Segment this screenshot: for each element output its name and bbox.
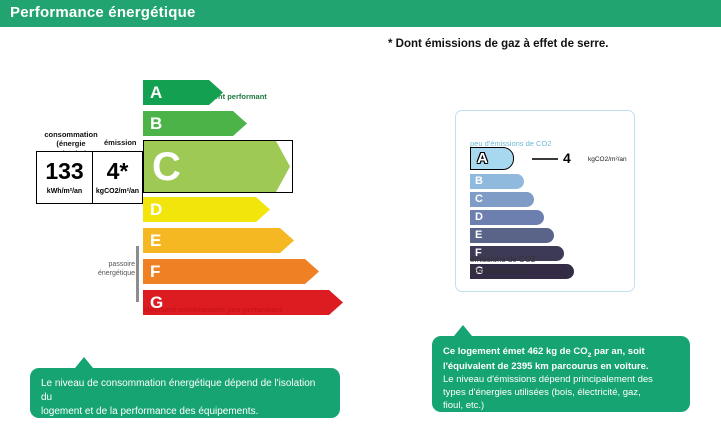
- arrow-tip-icon: [305, 259, 319, 284]
- emission-cell: 4* kgCO2/m²/an: [93, 152, 142, 203]
- consumption-value: 133: [45, 160, 83, 183]
- emission-unit: kgCO2/m²/an: [96, 188, 139, 195]
- co2-class-letter: A: [477, 151, 488, 166]
- energy-class-letter: B: [150, 115, 162, 132]
- co2-bold-2: l'équivalent de 2395 km parcourus en voi…: [443, 361, 649, 372]
- arrow-body: [143, 228, 280, 253]
- co2-bold-1-end: par an, soit: [591, 346, 644, 357]
- consumption-value-box: 133 kWh/m²/an 4* kgCO2/m²/an: [36, 151, 143, 204]
- passoire-bracket: [136, 246, 139, 302]
- co2-value: 4: [563, 150, 571, 166]
- co2-class-row-b: B: [470, 174, 524, 189]
- advice-line-3: Pour l'améliorer, voir pages 5 à 6: [41, 419, 187, 430]
- energy-class-letter: E: [150, 232, 161, 249]
- arrow-tip-icon: [233, 111, 247, 136]
- passoire-label: passoireénergétique: [95, 260, 135, 279]
- co2-bar-e: E: [470, 228, 554, 243]
- energy-class-row-a: A: [143, 80, 225, 105]
- arrow-tip-icon: [209, 80, 223, 105]
- co2-emissions-panel: peu d'émissions de CO2 A4kgCO2/m²/anBCDE…: [455, 110, 635, 292]
- co2-line-5: fioul, etc.): [443, 400, 484, 411]
- emission-value: 4*: [107, 160, 129, 183]
- callout-pointer: [454, 325, 472, 336]
- energy-class-letter: D: [150, 201, 162, 218]
- co2-class-letter: C: [475, 194, 483, 205]
- co2-advice-callout: Ce logement émet 462 kg de CO2 par an, s…: [432, 336, 690, 412]
- energy-class-row-c: C: [143, 140, 293, 193]
- energy-advice-text: Le niveau de consommation énergétique dé…: [30, 368, 340, 440]
- energy-bar-c: C: [144, 141, 292, 192]
- energy-class-row-f: F: [143, 259, 321, 284]
- co2-class-letter: B: [475, 176, 483, 187]
- energy-advice-callout: Le niveau de consommation énergétique dé…: [30, 368, 340, 418]
- co2-bold-1: Ce logement émet 462 kg de CO: [443, 346, 588, 357]
- energy-class-letter: G: [150, 294, 163, 311]
- energy-bar-e: E: [143, 228, 296, 253]
- consumption-cell: 133 kWh/m²/an: [37, 152, 93, 203]
- co2-leader-line: [532, 158, 558, 160]
- energy-bar-f: F: [143, 259, 321, 284]
- co2-bar-a: A: [470, 147, 514, 170]
- energy-bar-b: B: [143, 111, 249, 136]
- co2-bar-b: B: [470, 174, 524, 189]
- arrow-tip-icon: [276, 141, 290, 192]
- energy-performance-scale: logement extrêmement performant ABCDEFG …: [0, 80, 360, 325]
- consumption-unit: kWh/m²/an: [47, 188, 82, 195]
- energy-class-letter: F: [150, 263, 160, 280]
- arrow-tip-icon: [280, 228, 294, 253]
- co2-advice-text: Ce logement émet 462 kg de CO2 par an, s…: [432, 336, 690, 421]
- co2-bar-c: C: [470, 192, 534, 207]
- arrow-body: [143, 259, 305, 284]
- energy-class-letter: C: [152, 147, 181, 187]
- arrow-tip-icon: [329, 290, 343, 315]
- page-title: Performance énergétique: [10, 4, 196, 21]
- co2-class-row-a: A4kgCO2/m²/an: [470, 147, 594, 170]
- co2-class-letter: E: [475, 230, 482, 241]
- arrow-tip-icon: [256, 197, 270, 222]
- co2-class-letter: D: [475, 212, 483, 223]
- co2-caption-bottom: émissions de CO2très importantes: [470, 255, 535, 277]
- energy-caption-bottom: logement extrêmement peu performant: [143, 305, 282, 314]
- co2-line-4: types d'énergies utilisées (bois, électr…: [443, 387, 641, 398]
- energy-class-row-d: D: [143, 197, 272, 222]
- co2-unit: kgCO2/m²/an: [588, 156, 627, 163]
- advice-line-2: logement et de la performance des équipe…: [41, 406, 258, 417]
- co2-class-row-e: E: [470, 228, 554, 243]
- co2-bar-d: D: [470, 210, 544, 225]
- energy-bar-d: D: [143, 197, 272, 222]
- advice-line-1: Le niveau de consommation énergétique dé…: [41, 378, 315, 403]
- co2-class-row-c: C: [470, 192, 534, 207]
- energy-class-row-b: B: [143, 111, 249, 136]
- energy-class-row-e: E: [143, 228, 296, 253]
- energy-class-letter: A: [150, 84, 162, 101]
- co2-class-row-d: D: [470, 210, 544, 225]
- callout-pointer: [75, 357, 93, 368]
- greenhouse-gas-note: * Dont émissions de gaz à effet de serre…: [388, 38, 609, 50]
- energy-bar-a: A: [143, 80, 225, 105]
- co2-line-3: Le niveau d'émissions dépend principalem…: [443, 374, 653, 385]
- emission-heading: émission: [104, 138, 137, 147]
